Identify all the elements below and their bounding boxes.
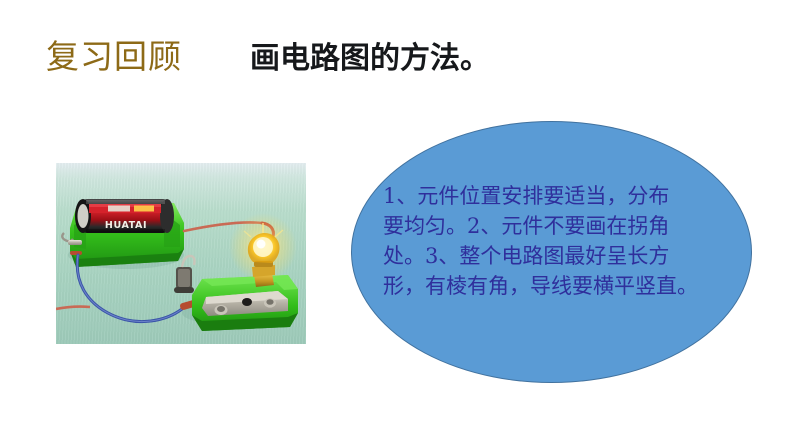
slide-canvas: 复习回顾 画电路图的方法。 — [0, 0, 794, 447]
callout-line: 处。3、整个电路图最好呈长方 — [383, 241, 728, 271]
callout-line: 形，有棱有角，导线要横平竖直。 — [383, 271, 728, 301]
callout-text-block: 1、元件位置安排要适当，分布 要均匀。2、元件不要画在拐角 处。3、整个电路图最… — [383, 181, 728, 301]
instruction-callout: 1、元件位置安排要适当，分布 要均匀。2、元件不要画在拐角 处。3、整个电路图最… — [351, 121, 752, 383]
callout-line: 1、元件位置安排要适当，分布 — [383, 181, 728, 211]
circuit-illustration: HUATAI — [56, 163, 306, 344]
page-title: 复习回顾 画电路图的方法。 — [46, 40, 490, 74]
title-secondary-text: 画电路图的方法。 — [250, 44, 490, 74]
circuit-photo: HUATAI — [56, 163, 306, 344]
title-primary-text: 复习回顾 — [46, 40, 182, 73]
callout-line: 要均匀。2、元件不要画在拐角 — [383, 211, 728, 241]
